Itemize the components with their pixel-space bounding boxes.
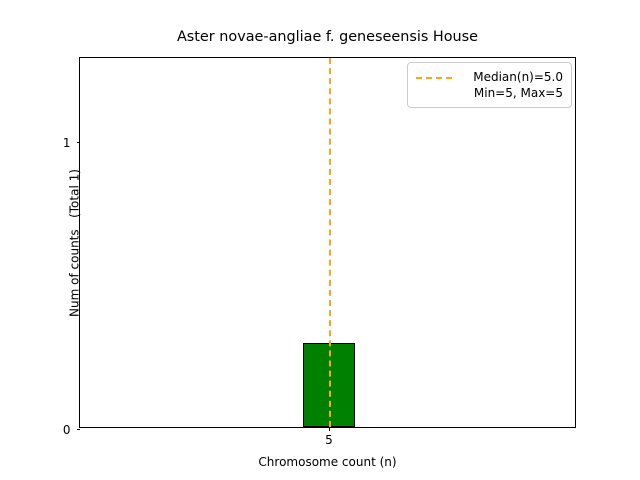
bar-series xyxy=(80,58,575,427)
legend-label-minmax: Min=5, Max=5 xyxy=(461,85,563,101)
y-axis-label: Num of counts (Total 1) xyxy=(68,58,86,429)
xtick-label-5: 5 xyxy=(325,433,333,447)
legend-text: Median(n)=5.0 Min=5, Max=5 xyxy=(461,69,563,101)
plot-area: 0 1 5 xyxy=(79,57,576,428)
ytick-mark-0: 0 xyxy=(77,429,81,430)
legend-dashed-line-icon xyxy=(416,70,452,86)
legend: Median(n)=5.0 Min=5, Max=5 xyxy=(407,62,572,108)
page-title: Aster novae-angliae f. geneseensis House xyxy=(79,30,576,46)
chart-figure: Aster novae-angliae f. geneseensis House… xyxy=(0,0,640,480)
x-axis-label: Chromosome count (n) xyxy=(79,455,576,469)
median-line xyxy=(329,58,331,427)
xtick-mark-5 xyxy=(329,427,330,431)
legend-label-median: Median(n)=5.0 xyxy=(461,69,563,85)
